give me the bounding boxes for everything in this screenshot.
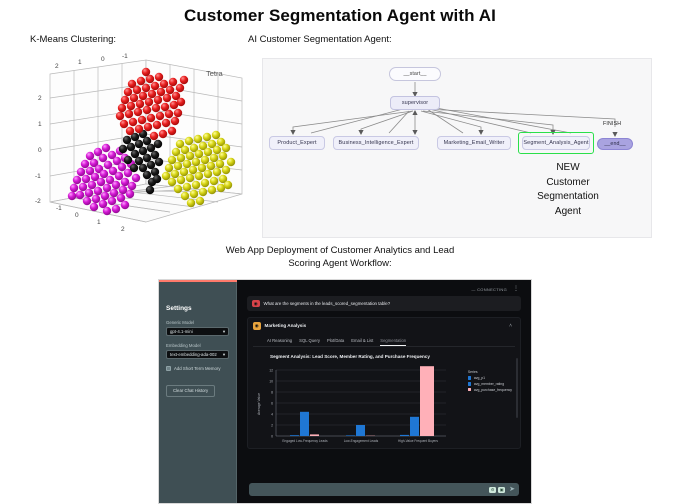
svg-text:2: 2 <box>121 226 125 233</box>
legend-item-purchase-frequency: avg_purchase_frequency <box>468 388 512 392</box>
bar-g2-member-rating <box>356 425 365 436</box>
chevron-down-icon: ▾ <box>223 329 225 335</box>
sidebar-title: Settings <box>166 305 229 312</box>
webapp-main: — CONNECTING ⋮ ◉ What are the segments i… <box>237 280 531 503</box>
assistant-avatar-icon: ◉ <box>253 322 261 330</box>
webapp-screenshot: Settings Generic Model gpt-4.1-mini ▾ Em… <box>158 279 532 504</box>
chevron-down-icon: ▾ <box>223 352 225 358</box>
agent-graph-panel: __start__ supervisor Product_Expert Busi… <box>262 58 652 238</box>
chevron-up-icon[interactable]: ˄ <box>509 323 515 329</box>
scatter-title-tetra: Tetra <box>206 69 224 78</box>
legend-label-1: avg_member_rating <box>474 382 504 386</box>
tab-email-list[interactable]: Email & List <box>351 338 373 347</box>
svg-text:0: 0 <box>38 147 42 154</box>
overflow-menu-icon[interactable]: ⋮ <box>513 287 519 292</box>
bar-g1-avg-p1 <box>290 435 299 436</box>
embedding-model-select[interactable]: text-embedding-ada-002 ▾ <box>166 350 229 359</box>
svg-text:1: 1 <box>38 121 42 128</box>
microphone-icon[interactable]: ⚙ <box>489 487 496 493</box>
svg-text:12: 12 <box>269 368 273 372</box>
bar-g3-avg-p1 <box>400 435 409 436</box>
svg-text:10: 10 <box>269 379 273 383</box>
webapp-caption-line2: Scoring Agent Workflow: <box>288 258 391 269</box>
annotation-line3: Segmentation <box>537 191 599 202</box>
card-scrollbar[interactable] <box>516 358 518 418</box>
chart-legend: Series avg_p1 avg_member_rating avg_purc… <box>468 370 512 393</box>
generic-model-label: Generic Model <box>166 320 229 325</box>
assistant-card-header[interactable]: ◉ Marketing Analysis ˄ <box>248 318 520 330</box>
svg-text:8: 8 <box>271 390 273 394</box>
y-axis-tick-labels: 024 6810 12 <box>269 368 273 438</box>
legend-item-member-rating: avg_member_rating <box>468 382 512 386</box>
svg-text:2: 2 <box>271 423 273 427</box>
result-tabs: AI Reasoning SQL Query Plot/Data Email &… <box>253 334 515 348</box>
y-tick-labels: 210 -1-2 <box>35 95 42 205</box>
short-term-memory-label: Add Short Term Memory <box>174 366 221 371</box>
svg-text:1: 1 <box>78 59 82 66</box>
svg-text:-2: -2 <box>35 198 41 205</box>
graph-node-product-expert[interactable]: Product_Expert <box>269 136 325 150</box>
legend-title: Series <box>468 370 512 374</box>
annotation-line1: NEW <box>556 162 579 173</box>
chat-input-bar[interactable]: ⚙ ▣ ➤ <box>249 483 519 496</box>
legend-swatch-icon <box>468 382 472 386</box>
user-message-text: What are the segments in the leads_score… <box>264 301 391 306</box>
assistant-card-title: Marketing Analysis <box>265 323 307 328</box>
legend-swatch-icon <box>468 388 472 392</box>
svg-text:-1: -1 <box>122 53 128 60</box>
x-axis-tick-labels: Engaged Low-Frequency Leads Low-Engageme… <box>282 439 438 443</box>
svg-text:-1: -1 <box>35 173 41 180</box>
bar-g3-member-rating <box>410 417 419 436</box>
kmeans-caption: K-Means Clustering: <box>30 34 116 45</box>
annotation-line4: Agent <box>555 206 581 217</box>
svg-text:4: 4 <box>271 412 273 416</box>
bar-g2-avg-p1 <box>346 435 355 436</box>
svg-text:0: 0 <box>75 212 79 219</box>
camera-icon[interactable]: ▣ <box>498 487 505 493</box>
bar-g3-purchase-frequency <box>420 366 434 436</box>
assistant-response-card: ◉ Marketing Analysis ˄ AI Reasoning SQL … <box>247 317 521 449</box>
graph-node-segment-analysis-agent[interactable]: Segment_Analysis_Agent <box>522 136 590 150</box>
checkbox-icon[interactable] <box>166 366 171 371</box>
svg-text:6: 6 <box>271 401 273 405</box>
agent-caption: AI Customer Segmentation Agent: <box>248 34 392 45</box>
embedding-model-value: text-embedding-ada-002 <box>170 352 217 357</box>
bar-g1-member-rating <box>300 412 309 436</box>
bar-g1-purchase-frequency <box>310 434 319 436</box>
short-term-memory-row[interactable]: Add Short Term Memory <box>166 366 229 371</box>
sidebar-accent-bar <box>159 280 237 282</box>
send-icon[interactable]: ➤ <box>509 486 515 493</box>
page-title: Customer Segmentation Agent with AI <box>0 6 680 26</box>
svg-text:-1: -1 <box>56 205 62 212</box>
clear-chat-history-button[interactable]: Clear Chat History <box>166 385 215 397</box>
tab-plot-data[interactable]: Plot/Data <box>327 338 344 347</box>
embedding-model-label: Embedding Model <box>166 343 229 348</box>
graph-node-start[interactable]: __start__ <box>389 67 441 81</box>
legend-label-0: avg_p1 <box>474 376 485 380</box>
legend-item-avg-p1: avg_p1 <box>468 376 512 380</box>
svg-text:2: 2 <box>38 95 42 102</box>
new-agent-annotation: NEW Customer Segmentation Agent <box>493 161 643 219</box>
bar-chart-title: Segment Analysis: Lead Score, Member Rat… <box>248 347 520 359</box>
webapp-topbar: — CONNECTING ⋮ <box>247 284 521 294</box>
legend-label-2: avg_purchase_frequency <box>474 388 512 392</box>
webapp-sidebar: Settings Generic Model gpt-4.1-mini ▾ Em… <box>159 280 237 503</box>
generic-model-select[interactable]: gpt-4.1-mini ▾ <box>166 327 229 336</box>
webapp-caption: Web App Deployment of Customer Analytics… <box>150 244 530 270</box>
segmentation-bar-chart: 024 6810 12 Average Value <box>248 362 520 449</box>
svg-text:0: 0 <box>101 56 105 63</box>
graph-node-supervisor[interactable]: supervisor <box>390 96 440 110</box>
svg-text:2: 2 <box>55 63 59 70</box>
graph-node-business-intelligence-expert[interactable]: Business_Intelligence_Expert <box>333 136 419 150</box>
svg-text:1: 1 <box>97 219 101 226</box>
kmeans-3d-scatter-plot: Tetra 210-1 210 -1-2 -1012 <box>28 52 248 234</box>
generic-model-value: gpt-4.1-mini <box>170 329 193 334</box>
scatter-3d-svg: Tetra 210-1 210 -1-2 -1012 <box>28 52 248 234</box>
status-badge: — CONNECTING <box>471 287 507 292</box>
legend-swatch-icon <box>468 376 472 380</box>
tab-ai-reasoning[interactable]: AI Reasoning <box>267 338 292 347</box>
svg-text:0: 0 <box>271 434 273 438</box>
x-tick-0: Engaged Low-Frequency Leads <box>282 439 328 443</box>
user-message-row: ◉ What are the segments in the leads_sco… <box>247 296 521 311</box>
y-axis-label: Average Value <box>257 393 261 415</box>
annotation-line2: Customer <box>546 177 589 188</box>
graph-node-marketing-email-writer[interactable]: Marketing_Email_Writer <box>437 136 511 150</box>
graph-node-end[interactable]: __end__ <box>597 138 633 150</box>
x-tick-2: High-Value Frequent Buyers <box>398 439 438 443</box>
user-avatar-icon: ◉ <box>252 300 260 308</box>
edge-label-finish: FINISH <box>603 121 621 127</box>
tab-segmentation[interactable]: Segmentation <box>380 338 406 347</box>
x-tick-1: Low-Engagement Leads <box>344 439 379 443</box>
tab-sql-query[interactable]: SQL Query <box>299 338 320 347</box>
webapp-caption-line1: Web App Deployment of Customer Analytics… <box>226 245 454 256</box>
